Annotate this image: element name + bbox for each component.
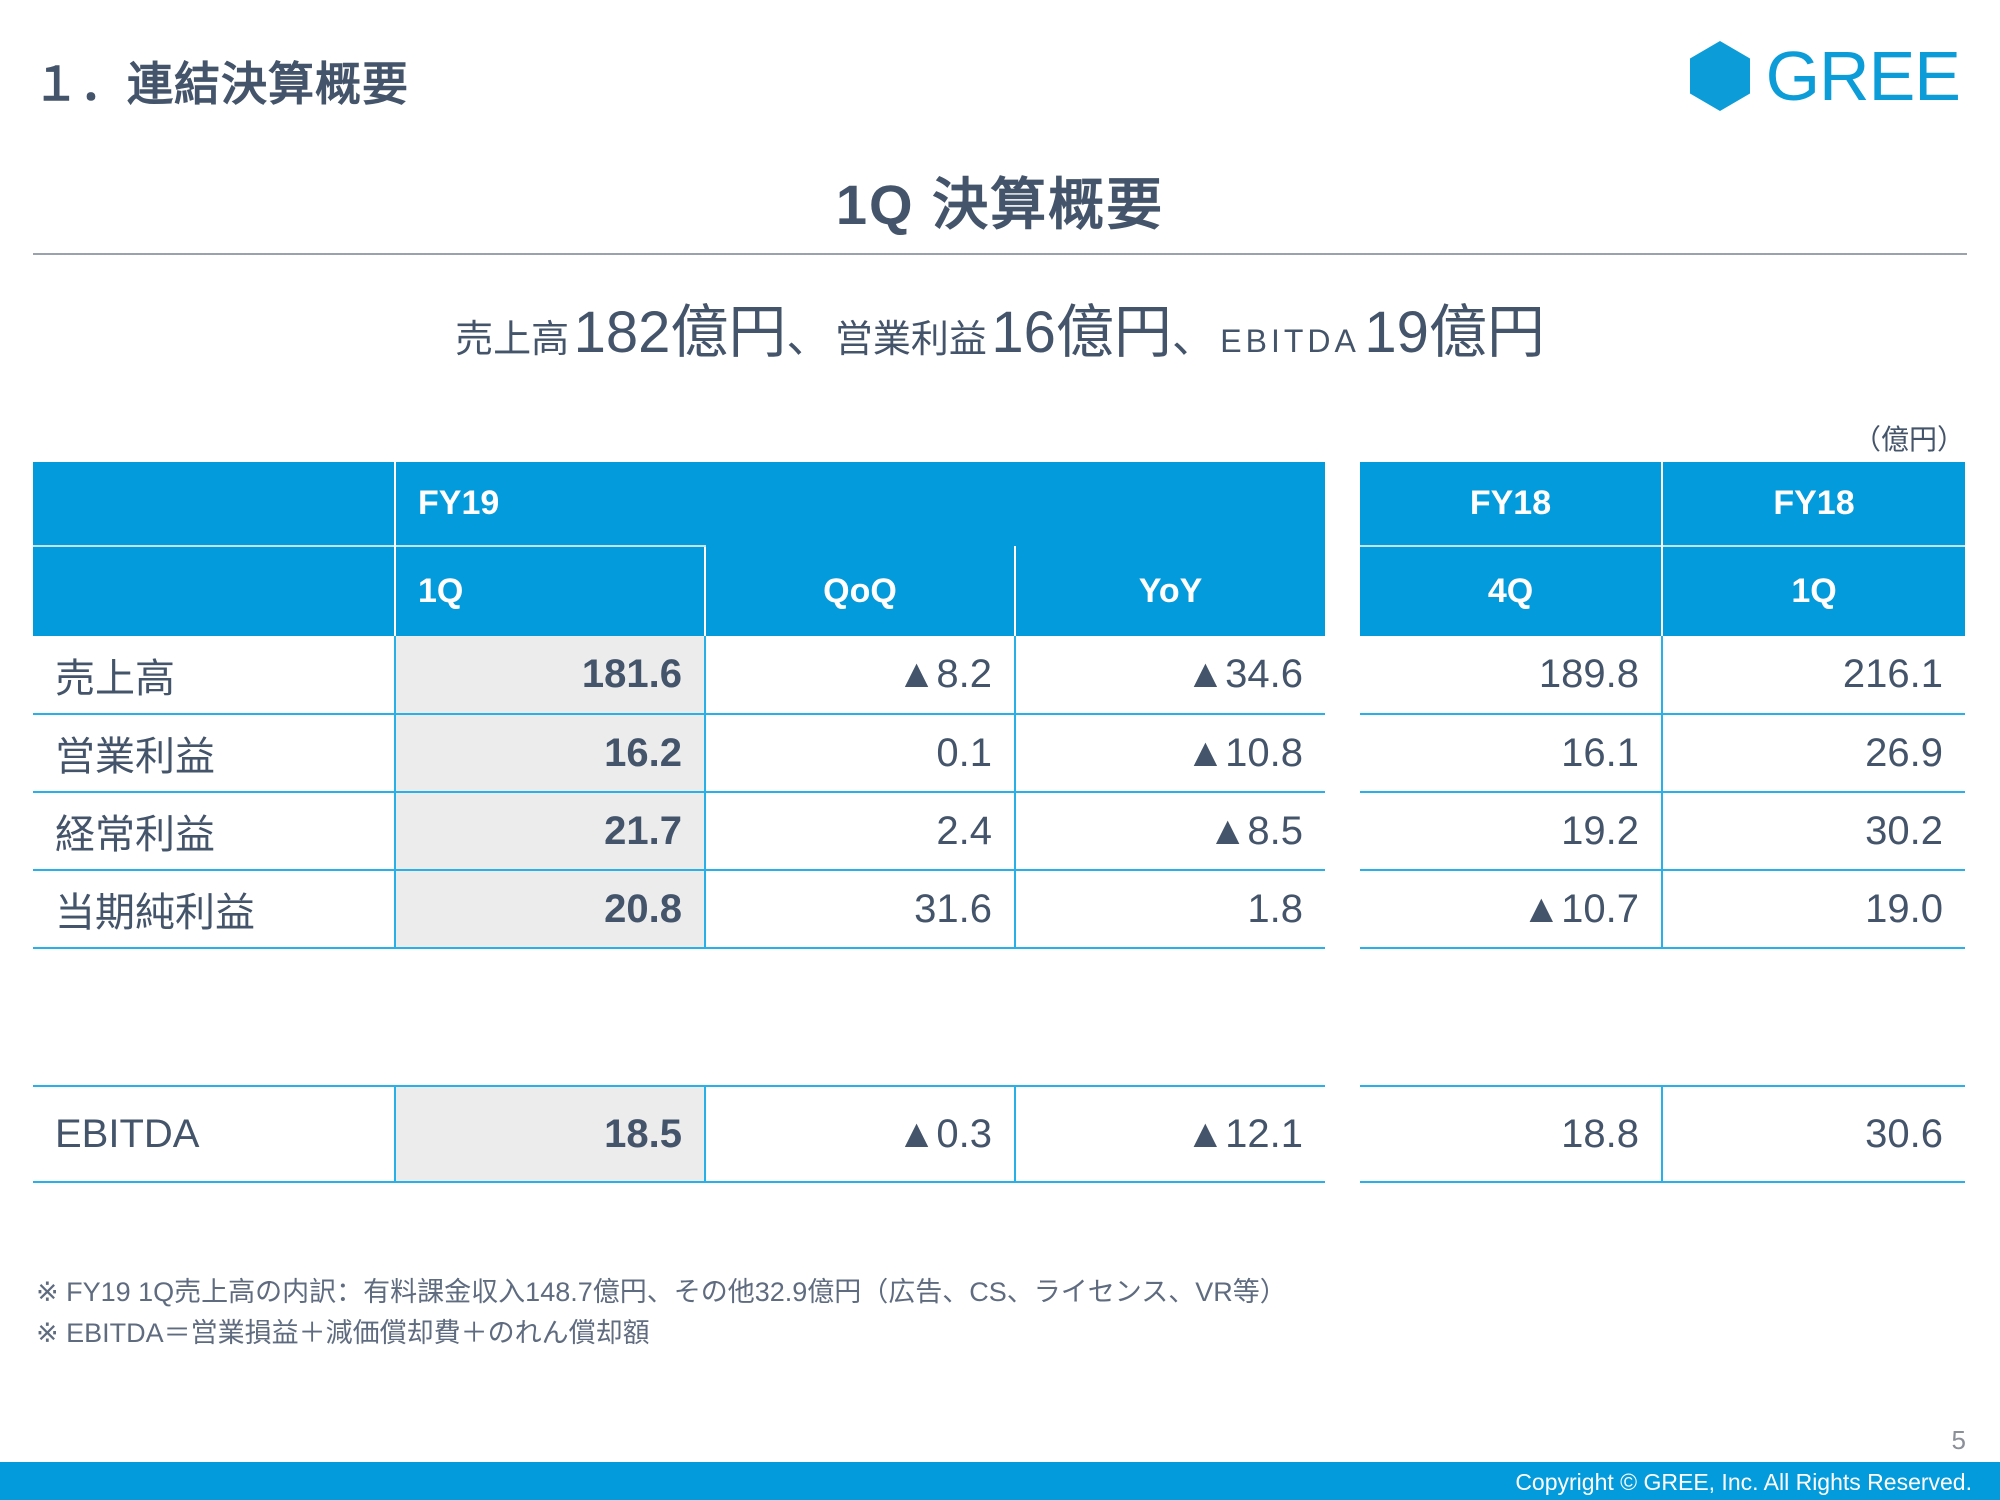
- cell-revenue-fy18-1q: 216.1: [1662, 636, 1965, 714]
- subtitle-value-ebitda: 19億円: [1364, 300, 1545, 365]
- subtitle-label-revenue: 売上高: [455, 319, 569, 361]
- table-row: 経常利益 21.7 2.4 ▲8.5: [33, 792, 1325, 870]
- cell-revenue-1q: 181.6: [395, 636, 705, 714]
- cell-revenue-fy18-4q: 189.8: [1360, 636, 1662, 714]
- cell-ordinary-income-yoy: ▲8.5: [1015, 792, 1325, 870]
- footnote-2: ※ EBITDA＝営業損益＋減価償却費＋のれん償却額: [36, 1313, 1287, 1354]
- slide-root: １．連結決算概要 GREE 1Q 決算概要 売上高 182億円、 営業利益 16…: [0, 0, 2000, 1500]
- header-fy18-1q-quarter: 1Q: [1662, 546, 1965, 636]
- header-col-yoy: YoY: [1015, 546, 1325, 636]
- gree-logo: GREE: [1688, 40, 1960, 112]
- subtitle-label-ebitda: EBITDA: [1220, 323, 1360, 359]
- cell-revenue-yoy: ▲34.6: [1015, 636, 1325, 714]
- row-label-ebitda: EBITDA: [33, 1086, 395, 1182]
- cell-ebitda-fy18-1q: 30.6: [1662, 1086, 1965, 1182]
- title-divider: [33, 253, 1967, 255]
- cell-ebitda-fy18-4q: 18.8: [1360, 1086, 1662, 1182]
- cell-operating-income-yoy: ▲10.8: [1015, 714, 1325, 792]
- page-title: 1Q 決算概要: [0, 160, 2000, 241]
- cell-net-income-yoy: 1.8: [1015, 870, 1325, 948]
- cell-net-income-qoq: 31.6: [705, 870, 1015, 948]
- table-row: 189.8 216.1: [1360, 636, 1965, 714]
- table-row: 18.8 30.6: [1360, 1086, 1965, 1182]
- cell-operating-income-1q: 16.2: [395, 714, 705, 792]
- subtitle-value-operating-income: 16億円: [991, 300, 1172, 365]
- cell-ordinary-income-fy18-4q: 19.2: [1360, 792, 1662, 870]
- header-fy19-group: FY19: [395, 462, 1325, 546]
- table-row: EBITDA 18.5 ▲0.3 ▲12.1: [33, 1086, 1325, 1182]
- copyright-text: Copyright © GREE, Inc. All Rights Reserv…: [1515, 1469, 1972, 1496]
- table-row: 19.2 30.2: [1360, 792, 1965, 870]
- header-fy18-4q-year: FY18: [1360, 462, 1662, 546]
- fy19-ebitda-table: EBITDA 18.5 ▲0.3 ▲12.1: [33, 1085, 1325, 1183]
- cell-ordinary-income-1q: 21.7: [395, 792, 705, 870]
- cell-ebitda-qoq: ▲0.3: [705, 1086, 1015, 1182]
- row-label-revenue: 売上高: [33, 636, 395, 714]
- cell-net-income-1q: 20.8: [395, 870, 705, 948]
- cell-net-income-fy18-4q: ▲10.7: [1360, 870, 1662, 948]
- table-header-row-top: FY18 FY18: [1360, 462, 1965, 546]
- footnote-1: ※ FY19 1Q売上高の内訳：有料課金収入148.7億円、その他32.9億円（…: [36, 1272, 1287, 1313]
- subtitle-sep-2: 、: [1172, 313, 1216, 362]
- cell-ebitda-yoy: ▲12.1: [1015, 1086, 1325, 1182]
- cell-revenue-qoq: ▲8.2: [705, 636, 1015, 714]
- table-header-row-bottom: 1Q QoQ YoY: [33, 546, 1325, 636]
- header-col-1q: 1Q: [395, 546, 705, 636]
- table-row: 営業利益 16.2 0.1 ▲10.8: [33, 714, 1325, 792]
- cell-operating-income-qoq: 0.1: [705, 714, 1015, 792]
- table-header-row-top: FY19: [33, 462, 1325, 546]
- table-row: 売上高 181.6 ▲8.2 ▲34.6: [33, 636, 1325, 714]
- unit-label: （億円）: [1853, 418, 1965, 458]
- header-fy18-4q-quarter: 4Q: [1360, 546, 1662, 636]
- table-header-row-bottom: 4Q 1Q: [1360, 546, 1965, 636]
- cell-operating-income-fy18-1q: 26.9: [1662, 714, 1965, 792]
- table-row: ▲10.7 19.0: [1360, 870, 1965, 948]
- table-row: 当期純利益 20.8 31.6 1.8: [33, 870, 1325, 948]
- cell-net-income-fy18-1q: 19.0: [1662, 870, 1965, 948]
- footnotes: ※ FY19 1Q売上高の内訳：有料課金収入148.7億円、その他32.9億円（…: [36, 1272, 1287, 1353]
- page-number: 5: [1952, 1425, 1966, 1456]
- fy18-main-table: FY18 FY18 4Q 1Q 189.8 216.1 16.1 26.9 19…: [1360, 462, 1965, 949]
- fy19-main-table: FY19 1Q QoQ YoY 売上高 181.6 ▲8.2 ▲34.6 営業利…: [33, 462, 1325, 949]
- fy18-ebitda-table: 18.8 30.6: [1360, 1085, 1965, 1183]
- table-row: 16.1 26.9: [1360, 714, 1965, 792]
- subtitle-sep-1: 、: [786, 313, 830, 362]
- subtitle-value-revenue: 182億円: [574, 300, 787, 365]
- header-blank-2: [33, 546, 395, 636]
- logo-wordmark: GREE: [1766, 44, 1960, 108]
- hexagon-icon: [1688, 40, 1752, 112]
- row-label-net-income: 当期純利益: [33, 870, 395, 948]
- cell-ebitda-1q: 18.5: [395, 1086, 705, 1182]
- header-col-qoq: QoQ: [705, 546, 1015, 636]
- subtitle-label-operating-income: 営業利益: [835, 319, 987, 361]
- footer-bar: Copyright © GREE, Inc. All Rights Reserv…: [0, 1462, 2000, 1500]
- header-corner-blank: [33, 462, 395, 546]
- cell-ordinary-income-qoq: 2.4: [705, 792, 1015, 870]
- row-label-ordinary-income: 経常利益: [33, 792, 395, 870]
- header-fy18-1q-year: FY18: [1662, 462, 1965, 546]
- summary-subtitle: 売上高 182億円、 営業利益 16億円、 EBITDA 19億円: [0, 285, 2000, 369]
- row-label-operating-income: 営業利益: [33, 714, 395, 792]
- section-title: １．連結決算概要: [33, 48, 409, 114]
- cell-ordinary-income-fy18-1q: 30.2: [1662, 792, 1965, 870]
- cell-operating-income-fy18-4q: 16.1: [1360, 714, 1662, 792]
